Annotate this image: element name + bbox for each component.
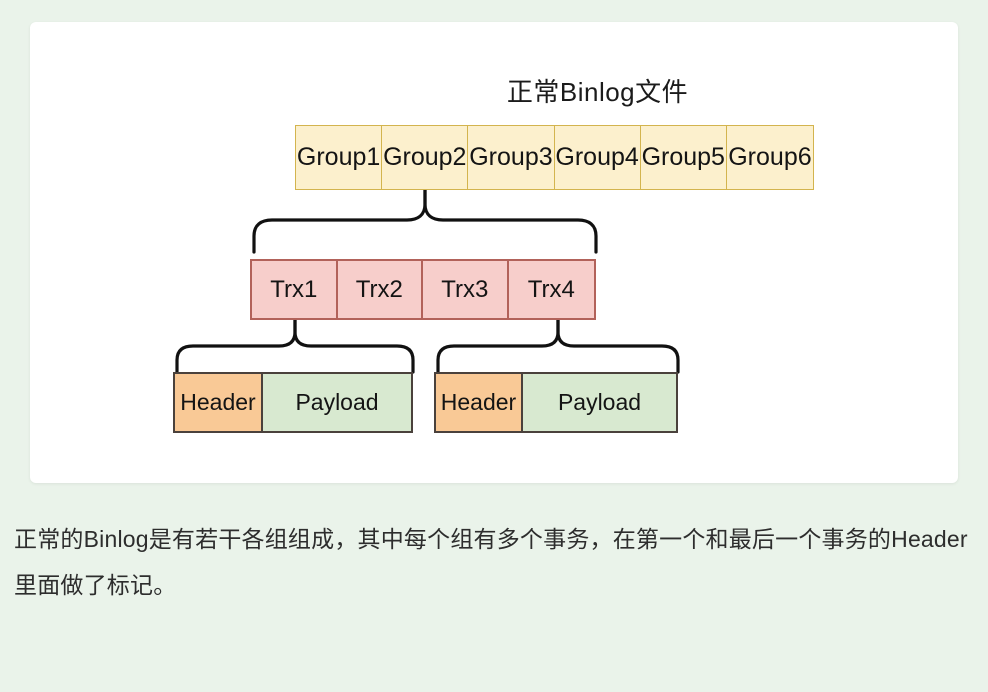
group-cell-label: Group3 [469, 143, 552, 172]
group-cell-label: Group1 [297, 143, 380, 172]
trx4-detail-row: Header Payload [434, 372, 678, 433]
article-card: 正常Binlog文件 Group1 Group2 Group3 Group4 G… [30, 22, 958, 483]
curly-brace-up-icon [434, 320, 682, 376]
group-cell: Group4 [555, 126, 641, 189]
trx-header-label: Header [441, 389, 516, 416]
trx-cell-label: Trx2 [356, 276, 403, 304]
group-cell-label: Group5 [642, 143, 725, 172]
trx-payload-label: Payload [295, 389, 378, 416]
trx-cell-label: Trx4 [528, 276, 575, 304]
group-cell-label: Group6 [728, 143, 811, 172]
group-cell: Group5 [641, 126, 727, 189]
group-cell: Group3 [468, 126, 554, 189]
trx-payload-box: Payload [523, 374, 676, 431]
group-cell: Group6 [727, 126, 813, 189]
trx-payload-label: Payload [558, 389, 641, 416]
diagram-title: 正常Binlog文件 [30, 72, 988, 109]
group-transactions-row: Trx1 Trx2 Trx3 Trx4 [250, 259, 596, 320]
trx1-detail-row: Header Payload [173, 372, 413, 433]
trx-cell: Trx3 [423, 261, 509, 318]
trx-header-box: Header [175, 374, 263, 431]
group-cell-label: Group4 [555, 143, 638, 172]
trx-cell: Trx2 [338, 261, 424, 318]
trx-payload-box: Payload [263, 374, 411, 431]
trx-cell-label: Trx3 [441, 276, 488, 304]
curly-brace-up-icon [173, 320, 417, 376]
group-cell: Group2 [382, 126, 468, 189]
curly-brace-up-icon [250, 190, 600, 260]
trx-header-label: Header [180, 389, 255, 416]
groups-to-trx-brace [250, 190, 600, 265]
group-cell: Group1 [296, 126, 382, 189]
trx-cell-label: Trx1 [270, 276, 317, 304]
group-cell-label: Group2 [383, 143, 466, 172]
binlog-structure-diagram: 正常Binlog文件 Group1 Group2 Group3 Group4 G… [30, 22, 958, 483]
binlog-groups-row: Group1 Group2 Group3 Group4 Group5 Group… [295, 125, 814, 190]
trx-cell: Trx1 [252, 261, 338, 318]
trx-cell: Trx4 [509, 261, 594, 318]
article-caption: 正常的Binlog是有若干各组组成，其中每个组有多个事务，在第一个和最后一个事务… [14, 516, 976, 608]
trx-header-box: Header [436, 374, 523, 431]
